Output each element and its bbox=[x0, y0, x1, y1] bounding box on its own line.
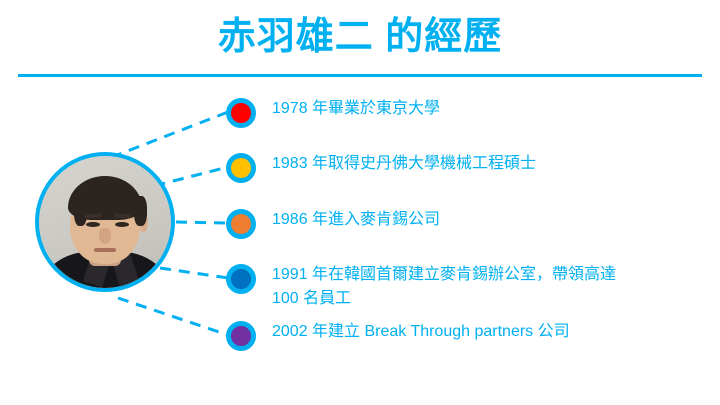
timeline-dot-icon bbox=[226, 264, 256, 294]
timeline-dot-icon bbox=[226, 98, 256, 128]
timeline-item-label: 1978 年畢業於東京大學 bbox=[272, 97, 440, 121]
slide-canvas: 赤羽雄二 的經歷 bbox=[0, 0, 720, 405]
timeline-item-1986: 1986 年進入麥肯錫公司 bbox=[226, 208, 440, 239]
timeline-item-label: 1986 年進入麥肯錫公司 bbox=[272, 208, 440, 232]
timeline: 1978 年畢業於東京大學 1983 年取得史丹佛大學機械工程碩士 1986 年… bbox=[0, 0, 720, 405]
timeline-dot-icon bbox=[226, 321, 256, 351]
timeline-item-1983: 1983 年取得史丹佛大學機械工程碩士 bbox=[226, 152, 536, 183]
timeline-item-label: 1991 年在韓國首爾建立麥肯錫辦公室，帶領高達 100 名員工 bbox=[272, 263, 616, 311]
timeline-item-2002: 2002 年建立 Break Through partners 公司 bbox=[226, 320, 570, 351]
timeline-item-1978: 1978 年畢業於東京大學 bbox=[226, 97, 440, 128]
timeline-item-label: 1983 年取得史丹佛大學機械工程碩士 bbox=[272, 152, 536, 176]
timeline-dot-icon bbox=[226, 209, 256, 239]
timeline-item-label: 2002 年建立 Break Through partners 公司 bbox=[272, 320, 570, 344]
timeline-item-1991: 1991 年在韓國首爾建立麥肯錫辦公室，帶領高達 100 名員工 bbox=[226, 263, 616, 311]
timeline-dot-icon bbox=[226, 153, 256, 183]
